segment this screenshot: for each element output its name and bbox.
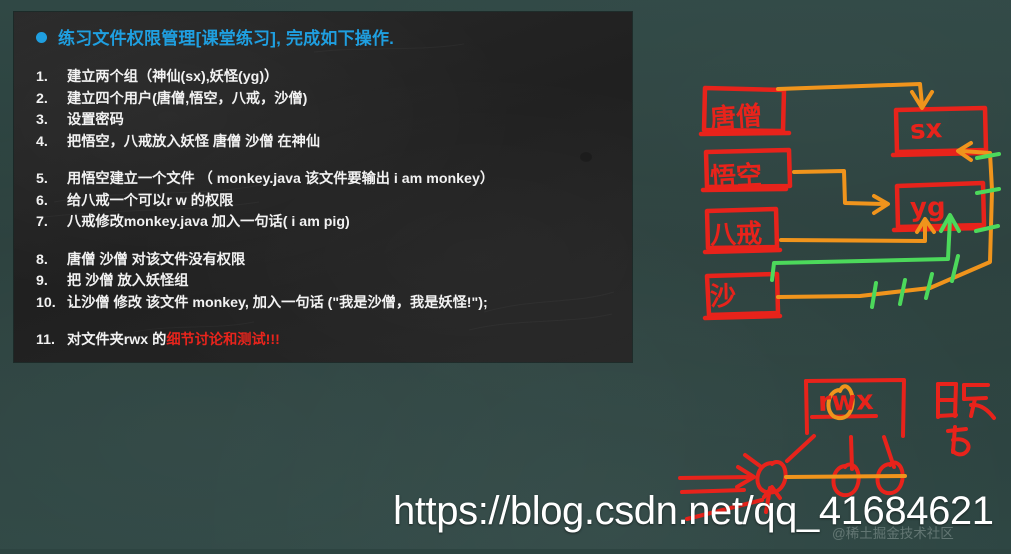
- slide-step-number: 8.: [36, 250, 67, 272]
- diagram-user-label-3: 八戒: [709, 213, 762, 252]
- slide-step-text: 让沙僧 修改 该文件 monkey, 加入一句话 ("我是沙僧，我是妖怪!");: [67, 293, 488, 315]
- user-box-shaseng-underline: [705, 316, 780, 318]
- slide-step-number: 3.: [36, 110, 67, 132]
- slide-step-number: 2.: [36, 89, 67, 111]
- group-box-sx-underline: [893, 153, 983, 155]
- diagram-user-label-1: 唐僧: [709, 95, 763, 136]
- arrow-shaseng-to-yg: [772, 215, 959, 280]
- slide-step-text: 唐僧 沙僧 对该文件没有权限: [67, 250, 245, 272]
- group-box-sx: [896, 108, 986, 152]
- slide-step-text: 把悟空，八戒放入妖怪 唐僧 沙僧 在神仙: [67, 132, 320, 154]
- site-watermark: @稀土掘金技术社区: [832, 522, 954, 542]
- slide-step-number: 9.: [36, 271, 67, 293]
- slide-step-text: 设置密码: [67, 110, 124, 132]
- slide-steps-list: 1.建立两个组（神仙(sx),妖怪(yg)）2.建立四个用户(唐僧,悟空，八戒，…: [36, 67, 622, 352]
- slide-step-item: 11.对文件夹rwx 的细节讨论和测试!!!: [36, 330, 622, 352]
- group-box-group: [893, 108, 986, 230]
- slide-step-item: 6.给八戒一个可以r w 的权限: [36, 191, 622, 213]
- slide-step-item: 3.设置密码: [36, 110, 622, 132]
- slide-step-item: 8.唐僧 沙僧 对该文件没有权限: [36, 250, 622, 272]
- diagram-perm-label: rwx: [817, 385, 874, 418]
- slide-step-item: 10.让沙僧 修改 该文件 monkey, 加入一句话 ("我是沙僧，我是妖怪!…: [36, 293, 622, 315]
- perm-box-rwx: [806, 380, 904, 436]
- slide-title-row: 练习文件权限管理[课堂练习], 完成如下操作.: [36, 24, 622, 49]
- slide-step-text: 把 沙僧 放入妖怪组: [67, 271, 188, 293]
- slide-step-text: 建立两个组（神仙(sx),妖怪(yg)）: [67, 67, 278, 89]
- circle-w-highlight: [828, 386, 852, 418]
- slide-step-number: 11.: [36, 330, 67, 352]
- slide-step-item: 1.建立两个组（神仙(sx),妖怪(yg)）: [36, 67, 622, 89]
- slide-step-item: 7.八戒修改monkey.java 加入一句话( i am pig): [36, 212, 622, 234]
- slide-title: 练习文件权限管理[课堂练习], 完成如下操作.: [58, 24, 394, 49]
- slide-step-item: 9.把 沙僧 放入妖怪组: [36, 271, 622, 293]
- diagram-user-label-2: 悟空: [709, 155, 763, 195]
- slide-step-item: 4.把悟空，八戒放入妖怪 唐僧 沙僧 在神仙: [36, 132, 622, 154]
- user-box-bajie-underline: [705, 250, 780, 252]
- slide-step-text: 八戒修改monkey.java 加入一句话( i am pig): [67, 212, 350, 234]
- slide-step-number: 10.: [36, 293, 67, 315]
- slide-step-item: 2.建立四个用户(唐僧,悟空，八戒，沙僧): [36, 89, 622, 111]
- group-box-yg: [897, 183, 984, 227]
- user-box-bajie: [707, 209, 777, 248]
- diagram-group-label-1: sx: [909, 114, 943, 146]
- slide-step-number: 6.: [36, 191, 67, 213]
- slide-step-number: 4.: [36, 132, 67, 154]
- arrow-tangseng-to-sx: [778, 84, 932, 108]
- slide-step-number: 1.: [36, 67, 67, 89]
- arrow-bajie-to-yg: [781, 219, 934, 241]
- slide-step-number: 5.: [36, 169, 67, 191]
- group-box-yg-underline: [894, 228, 982, 230]
- bullet-dot-icon: [36, 32, 47, 43]
- perm-legs: [787, 436, 894, 469]
- user-box-shaseng: [707, 274, 778, 315]
- slide-panel: 练习文件权限管理[课堂练习], 完成如下操作. 1.建立两个组（神仙(sx),妖…: [14, 12, 632, 362]
- arrow-shaseng-to-sx-cancelled: [778, 143, 992, 297]
- slide-step-text: 给八戒一个可以r w 的权限: [67, 191, 233, 213]
- slide-step-number: 7.: [36, 212, 67, 234]
- diagram-group-label-2: yg: [910, 193, 946, 224]
- slide-step-text: 建立四个用户(唐僧,悟空，八戒，沙僧): [67, 89, 307, 111]
- cancel-hash-marks: [872, 154, 999, 307]
- slide-step-text: 对文件夹rwx 的: [67, 330, 166, 352]
- perm-connector-line: [786, 476, 905, 477]
- diagram-user-label-4: 沙: [710, 276, 737, 313]
- slide-step-emphasis: 细节讨论和测试!!!: [166, 330, 280, 352]
- user-box-wukong: [706, 150, 790, 187]
- slide-step-item: 5.用悟空建立一个文件 （ monkey.java 该文件要输出 i am mo…: [36, 169, 622, 191]
- note-yan-strokes: [938, 384, 994, 454]
- user-box-tangseng: [704, 88, 784, 131]
- user-box-wukong-underline: [703, 189, 786, 190]
- user-box-tangseng-underline: [701, 133, 789, 134]
- slide-step-text: 用悟空建立一个文件 （ monkey.java 该文件要输出 i am monk…: [67, 169, 494, 191]
- user-box-group: [701, 88, 790, 318]
- arrow-wukong-to-yg: [794, 171, 888, 213]
